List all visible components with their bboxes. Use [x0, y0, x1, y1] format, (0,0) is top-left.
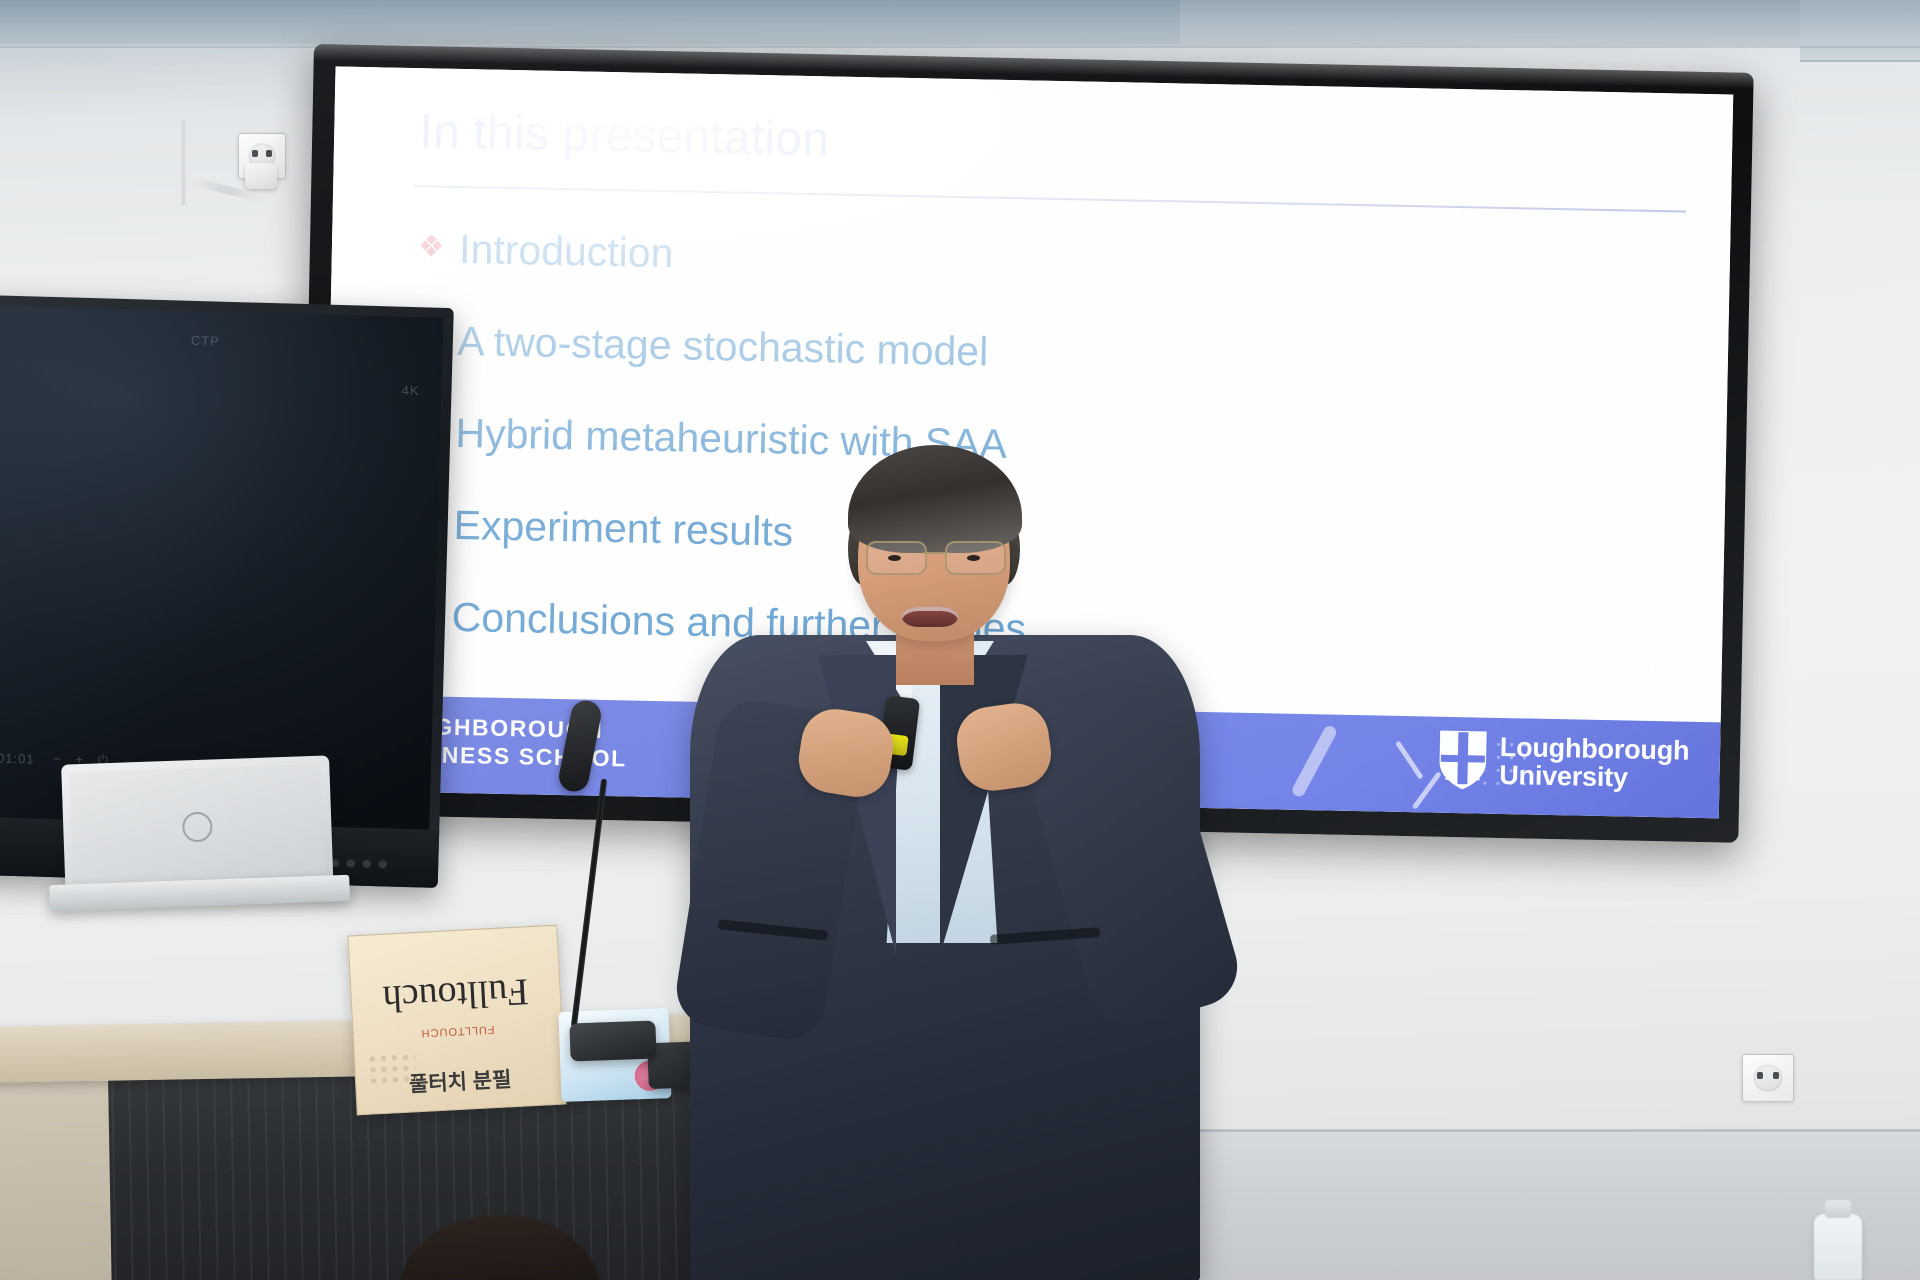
presenter-mouth [902, 607, 958, 627]
outlet-pin-left [1757, 1072, 1763, 1079]
ceiling-vent [1800, 0, 1920, 62]
secondary-display-brand: CTP [191, 333, 220, 349]
chalk-box-subbrand: FULLTOUCH [420, 1023, 495, 1039]
port-icon [378, 859, 387, 868]
presenter-eye-left [888, 555, 901, 561]
logo-wordmark: Loughborough University [1499, 732, 1690, 792]
chalk-box-face: Fulltouch FULLTOUCH 풀터치 분필 [347, 925, 566, 1116]
laptop-lid [61, 755, 333, 892]
wall-outlet-right-upper [1742, 1054, 1794, 1102]
presenter [690, 455, 1200, 1280]
slide-title-divider [413, 185, 1686, 213]
outlet-plug [245, 163, 277, 189]
secondary-display-corner-mark: 4K [401, 383, 419, 398]
bottle-cap [1825, 1200, 1851, 1218]
microphone-capsule [556, 698, 603, 794]
presenter-eye-right [967, 555, 980, 561]
microphone-base[interactable] [569, 1021, 656, 1062]
presenter-lapel-right [940, 655, 1028, 955]
presenter-hair [848, 445, 1022, 553]
secondary-display-input-label: 01:01 [0, 751, 35, 767]
footer-chevron-icon [1395, 741, 1424, 780]
port-icon [362, 859, 371, 868]
loughborough-university-logo: Loughborough University [1437, 729, 1690, 796]
diamond-bullet-icon: ❖ [403, 223, 460, 266]
chalk-box-brand: Fulltouch [382, 969, 530, 1021]
wall-seam [0, 46, 1920, 48]
list-item-label: A two-stage stochastic model [457, 317, 989, 377]
laptop[interactable] [45, 755, 351, 935]
microphone-gooseneck [571, 779, 607, 1028]
chalk-box[interactable]: Fulltouch FULLTOUCH 풀터치 분필 [347, 925, 566, 1116]
chalk-box-dot-pattern [367, 1051, 417, 1087]
shield-crest-icon [1437, 729, 1488, 792]
water-bottle [1814, 1214, 1862, 1280]
logo-line-2: University [1499, 761, 1689, 793]
secondary-display-screen[interactable]: CTP 4K 01:01 − + ⏻ [0, 305, 444, 829]
glasses-lens-left [866, 541, 927, 575]
outlet-pin-right [1773, 1072, 1779, 1079]
chalk-box-korean-label: 풀터치 분필 [408, 1063, 512, 1098]
slide-title: In this presentation [419, 104, 830, 167]
wall-conduit [180, 120, 187, 206]
rimless-glasses-icon [866, 541, 1006, 571]
footer-decor-bar-3 [1290, 724, 1338, 799]
list-item-label: Introduction [459, 225, 674, 278]
lecture-room-scene: In this presentation ❖ Introduction ❖ A … [0, 0, 1920, 1280]
podium-side-panel [0, 1079, 112, 1280]
ceiling-panel [0, 0, 1180, 44]
outlet-pin-right [266, 150, 272, 157]
glasses-lens-right [945, 541, 1006, 575]
gooseneck-microphone[interactable] [540, 700, 690, 1100]
outlet-pin-left [252, 150, 258, 157]
